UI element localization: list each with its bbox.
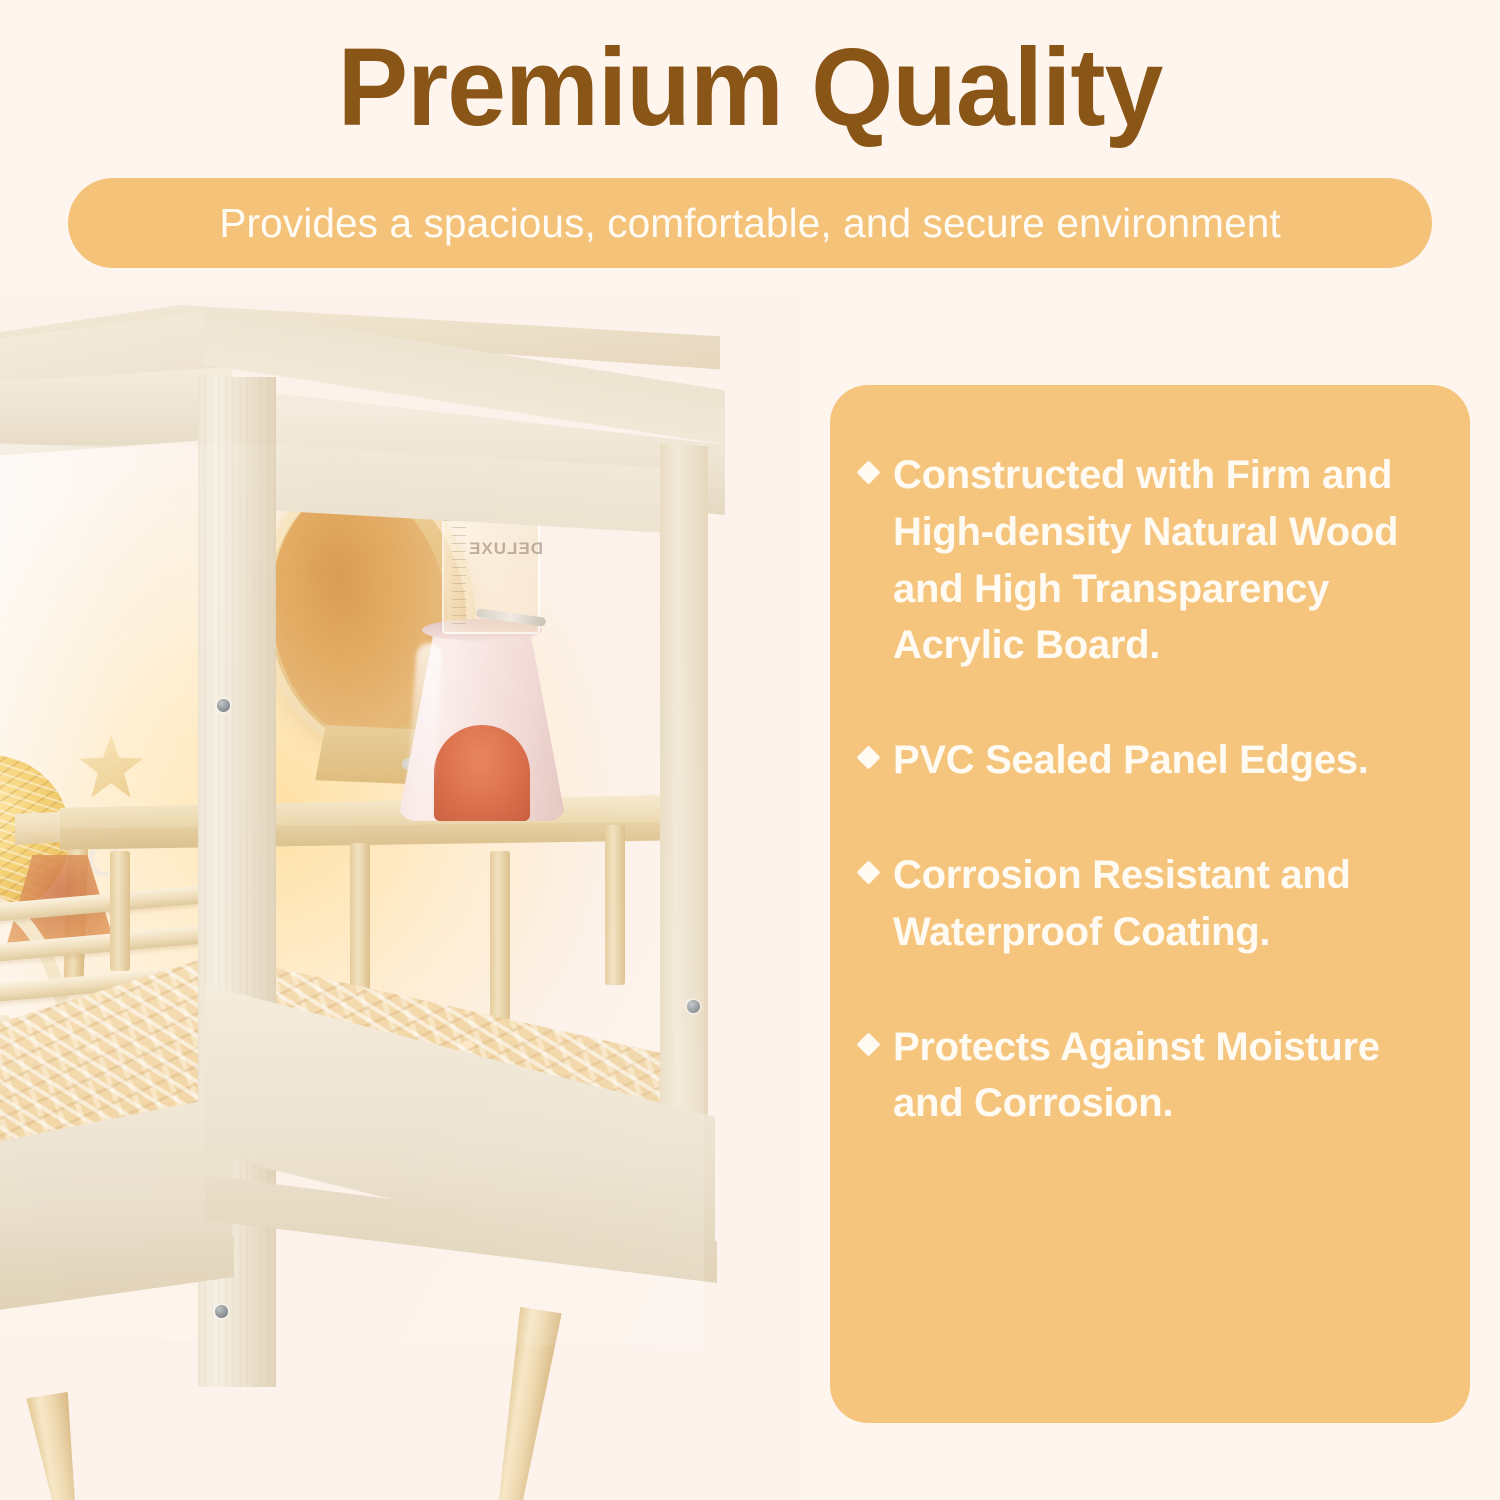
feature-text: PVC Sealed Panel Edges. (893, 732, 1369, 789)
feature-item: PVC Sealed Panel Edges. (860, 732, 1436, 789)
water-bottle-label: DELUXE (468, 539, 543, 559)
feature-item: Protects Against Moisture and Corrosion. (860, 1019, 1436, 1133)
feature-item: Corrosion Resistant and Waterproof Coati… (860, 847, 1436, 961)
subtitle-text: Provides a spacious, comfortable, and se… (219, 200, 1280, 247)
screw-icon (687, 1000, 700, 1013)
feature-text: Corrosion Resistant and Waterproof Coati… (893, 847, 1436, 961)
screw-icon (215, 1305, 228, 1318)
water-bottle-graduations (452, 527, 466, 625)
feature-item: Constructed with Firm and High-density N… (860, 447, 1436, 674)
screw-icon (217, 699, 230, 712)
diamond-bullet-icon (856, 746, 880, 770)
hideout-doorway (434, 725, 530, 821)
diamond-bullet-icon (856, 860, 880, 884)
feature-list-panel: Constructed with Firm and High-density N… (830, 385, 1470, 1423)
shelf-leg (110, 851, 130, 971)
diamond-bullet-icon (856, 460, 880, 484)
feature-list: Constructed with Firm and High-density N… (860, 447, 1436, 1132)
product-image: DELUXE (0, 295, 800, 1500)
diamond-bullet-icon (856, 1032, 880, 1056)
product-feature-page: Premium Quality Provides a spacious, com… (0, 0, 1500, 1500)
page-title: Premium Quality (30, 26, 1470, 149)
feature-text: Constructed with Firm and High-density N… (893, 447, 1436, 674)
shelf-leg (605, 825, 625, 985)
feature-text: Protects Against Moisture and Corrosion. (893, 1019, 1436, 1133)
shelf-leg (490, 851, 510, 1026)
subtitle-banner: Provides a spacious, comfortable, and se… (68, 178, 1432, 268)
